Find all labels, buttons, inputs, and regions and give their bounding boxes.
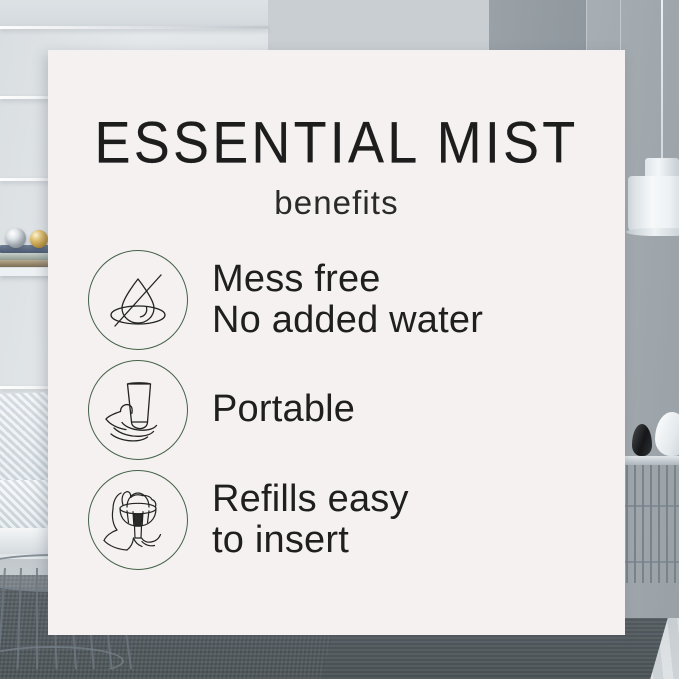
- basket-base: [0, 646, 124, 669]
- page-subtitle: benefits: [48, 184, 625, 222]
- benefits-card: ESSENTIAL MIST benefits: [48, 50, 625, 635]
- benefit-item: Portable: [88, 355, 611, 465]
- stacked-book-middle: [0, 252, 54, 260]
- pendant-lamp-cord: [661, 0, 663, 160]
- benefit-label: Refills easy to insert: [212, 479, 409, 561]
- console-table-top: [622, 456, 679, 465]
- benefits-list: Mess free No added water: [88, 245, 611, 575]
- pendant-lamp-shade: [628, 176, 679, 232]
- benefit-label: Portable: [212, 389, 355, 430]
- console-table-frame: [624, 465, 679, 583]
- benefit-label: Mess free No added water: [212, 259, 483, 341]
- wall-panel-upper: [0, 0, 268, 28]
- page-title: ESSENTIAL MIST: [48, 110, 625, 177]
- benefit-item: Mess free No added water: [88, 245, 611, 355]
- refill-insert-icon: [88, 470, 188, 570]
- decorative-sphere-silver: [6, 228, 26, 248]
- shelf-line-1: [0, 26, 268, 29]
- pendant-lamp-rim: [626, 228, 679, 236]
- no-water-droplet-icon: [88, 250, 188, 350]
- hand-holding-diffuser-icon: [88, 360, 188, 460]
- product-infographic-scene: ESSENTIAL MIST benefits: [0, 0, 679, 679]
- benefit-item: Refills easy to insert: [88, 465, 611, 575]
- decorative-sphere-gold: [30, 230, 48, 248]
